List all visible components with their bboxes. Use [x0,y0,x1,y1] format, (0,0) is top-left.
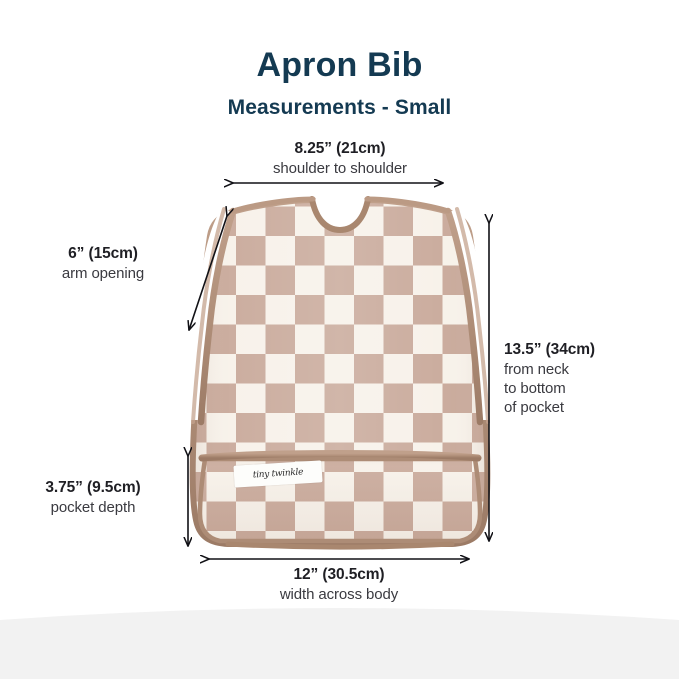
measurement-value-pocket-depth: 3.75” (9.5cm) [8,478,178,498]
measurement-label-arm-opening: 6” (15cm) arm opening [18,244,188,283]
measurement-label-neck-to-pocket: 13.5” (34cm) from neck to bottom of pock… [504,340,674,417]
measurement-value-width-across-body: 12” (30.5cm) [188,565,490,585]
measurement-value-shoulder-to-shoulder: 8.25” (21cm) [180,139,500,159]
measurement-desc-arm-opening: arm opening [18,264,188,283]
measurement-desc-width-across-body: width across body [188,585,490,604]
page-subtitle: Measurements - Small [0,96,679,120]
measurement-desc-neck-to-pocket-line3: of pocket [504,398,674,417]
measurement-label-shoulder-to-shoulder: 8.25” (21cm) shoulder to shoulder [180,139,500,178]
page-title: Apron Bib [0,48,679,84]
measurement-label-pocket-depth: 3.75” (9.5cm) pocket depth [8,478,178,517]
measurement-desc-neck-to-pocket-line2: to bottom [504,379,674,398]
measurement-desc-neck-to-pocket-line1: from neck [504,360,674,379]
measurement-value-neck-to-pocket: 13.5” (34cm) [504,340,674,360]
brand-tag-label: tiny twinkle [253,467,304,480]
measurement-label-width-across-body: 12” (30.5cm) width across body [188,565,490,604]
measurement-value-arm-opening: 6” (15cm) [18,244,188,264]
measurement-desc-shoulder-to-shoulder: shoulder to shoulder [180,159,500,178]
measurement-diagram: tiny twinkle Apron Bib Measurements - Sm… [0,0,679,679]
arrow-arm-opening [189,216,227,330]
measurement-desc-pocket-depth: pocket depth [8,498,178,517]
